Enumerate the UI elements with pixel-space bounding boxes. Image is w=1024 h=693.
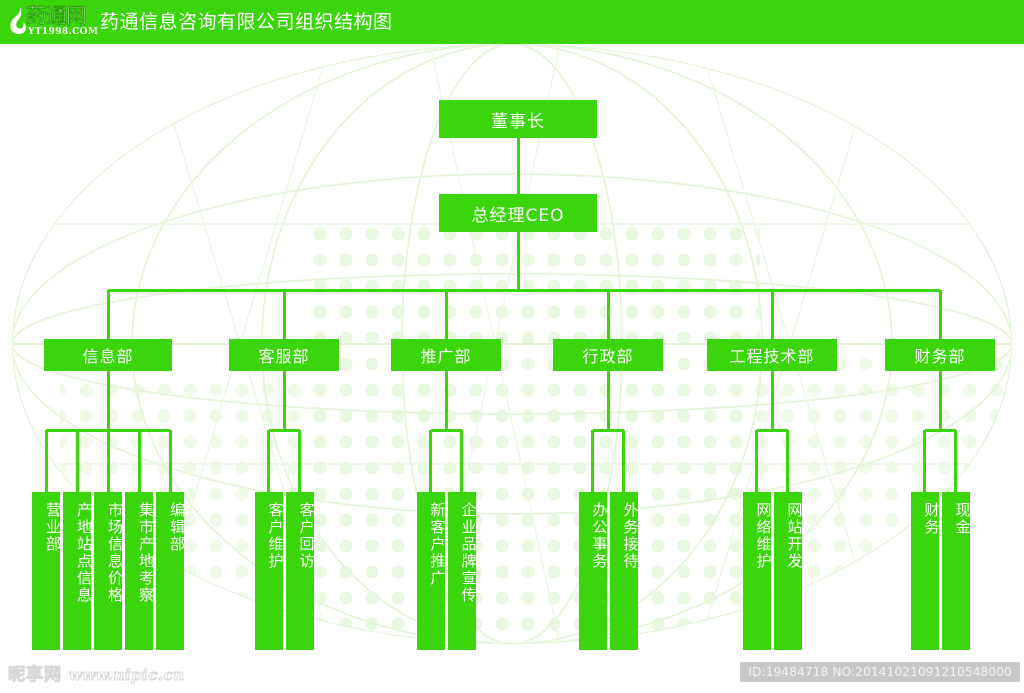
flame-icon	[8, 6, 28, 36]
connector-dept-leafbus-5	[939, 371, 942, 430]
page-header: 药通网 YT1998.COM 药通信息咨询有限公司组织结构图	[0, 0, 1024, 44]
leaf-bus-5	[925, 429, 956, 432]
connector-leaf-2-0	[429, 430, 432, 492]
connector-dept-leafbus-3	[607, 371, 610, 430]
connector-bus-dept-1	[283, 290, 286, 339]
connector-leaf-3-0	[591, 430, 594, 492]
image-id-watermark: ID:19484718 NO:20141021091210548000	[740, 662, 1020, 682]
box-unit-2-1[interactable]: 企业品牌宣传	[448, 492, 476, 650]
leaf-bus-2	[431, 429, 462, 432]
box-unit-0-3[interactable]: 集市产地考察	[125, 492, 153, 650]
leaf-bus-4	[757, 429, 788, 432]
box-unit-1-0[interactable]: 客户维护	[255, 492, 283, 650]
connector-dept-leafbus-0	[107, 371, 110, 430]
logo-url-text: YT1998.COM	[28, 27, 98, 37]
box-department-1[interactable]: 客服部	[229, 339, 339, 371]
connector-ceo-bus	[517, 232, 520, 290]
connector-bus-dept-4	[771, 290, 774, 339]
connector-leaf-3-1	[622, 430, 625, 492]
connector-leaf-0-4	[169, 430, 172, 492]
connector-leaf-4-1	[786, 430, 789, 492]
connector-leaf-0-2	[107, 430, 110, 492]
box-unit-0-4[interactable]: 编辑部	[156, 492, 184, 650]
connector-leaf-1-1	[298, 430, 301, 492]
box-department-0[interactable]: 信息部	[44, 339, 172, 371]
box-unit-3-1[interactable]: 外务接待	[610, 492, 638, 650]
site-logo[interactable]: 药通网 YT1998.COM	[6, 2, 94, 42]
connector-bus-dept-0	[107, 290, 110, 339]
connector-chairman-ceo	[517, 138, 520, 194]
box-unit-4-1[interactable]: 网站开发	[774, 492, 802, 650]
box-department-4[interactable]: 工程技术部	[707, 339, 837, 371]
box-chairman[interactable]: 董事长	[439, 100, 597, 138]
box-unit-1-1[interactable]: 客户回访	[286, 492, 314, 650]
connector-leaf-0-3	[138, 430, 141, 492]
logo-text: 药通网	[26, 4, 86, 28]
box-ceo[interactable]: 总经理CEO	[439, 194, 597, 232]
connector-leaf-4-0	[755, 430, 758, 492]
connector-leaf-5-0	[923, 430, 926, 492]
connector-bus-dept-2	[445, 290, 448, 339]
connector-bus-dept-5	[939, 290, 942, 339]
box-department-5[interactable]: 财务部	[885, 339, 995, 371]
nipic-url-text: www.nipic.cn	[69, 665, 185, 685]
box-unit-4-0[interactable]: 网络维护	[743, 492, 771, 650]
box-unit-2-0[interactable]: 新客户推广	[417, 492, 445, 650]
connector-leaf-1-0	[267, 430, 270, 492]
box-unit-5-1[interactable]: 现金	[942, 492, 970, 650]
connector-leaf-0-0	[45, 430, 48, 492]
page-title: 药通信息咨询有限公司组织结构图	[100, 9, 393, 35]
nipic-watermark: 昵享网 www.nipic.cn	[8, 663, 185, 687]
leaf-bus-3	[593, 429, 624, 432]
org-chart-page: 药通网 YT1998.COM 药通信息咨询有限公司组织结构图 董事长总经理CEO…	[0, 0, 1024, 693]
box-unit-5-0[interactable]: 财务	[911, 492, 939, 650]
box-unit-3-0[interactable]: 办公事务	[579, 492, 607, 650]
connector-leaf-5-1	[954, 430, 957, 492]
box-department-3[interactable]: 行政部	[553, 339, 663, 371]
connector-leaf-2-1	[460, 430, 463, 492]
connector-leaf-0-1	[76, 430, 79, 492]
nipic-logo-text: 昵享网	[8, 665, 62, 685]
box-unit-0-0[interactable]: 营业部	[32, 492, 60, 650]
connector-dept-leafbus-4	[771, 371, 774, 430]
box-department-2[interactable]: 推广部	[391, 339, 501, 371]
connector-bus-dept-3	[607, 290, 610, 339]
connector-dept-leafbus-2	[445, 371, 448, 430]
box-unit-0-2[interactable]: 市场信息价格	[94, 492, 122, 650]
leaf-bus-1	[269, 429, 300, 432]
connector-dept-leafbus-1	[283, 371, 286, 430]
box-unit-0-1[interactable]: 产地站点信息	[63, 492, 91, 650]
bus-departments	[108, 289, 940, 292]
